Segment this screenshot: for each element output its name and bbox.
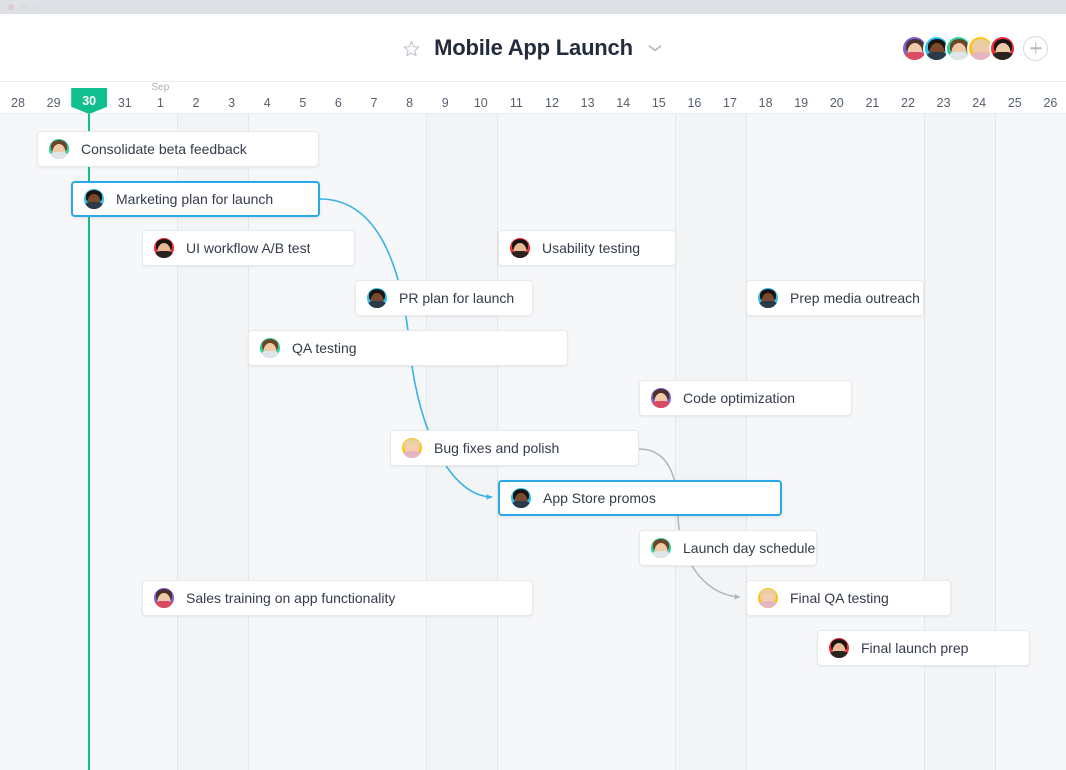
- avatar-body: [511, 501, 532, 508]
- app-header: Mobile App Launch: [0, 14, 1066, 82]
- ruler-tick[interactable]: 22: [890, 82, 926, 114]
- task-card-label: Marketing plan for launch: [116, 191, 273, 207]
- ruler-tick[interactable]: 7: [356, 82, 392, 114]
- ruler-tick-label: 5: [299, 97, 306, 115]
- task-ui-workflow-ab-test[interactable]: UI workflow A/B test: [142, 230, 355, 266]
- task-card-label: Prep media outreach: [790, 290, 920, 306]
- timeline-board: Consolidate beta feedbackMarketing plan …: [0, 114, 1066, 770]
- task-marketing-plan-for-launch[interactable]: Marketing plan for launch: [71, 181, 320, 217]
- task-prep-media-outreach[interactable]: Prep media outreach: [746, 280, 924, 316]
- ruler-tick-label: 12: [545, 97, 559, 115]
- member-avatar-list: [901, 14, 1048, 82]
- ruler-tick[interactable]: 5: [285, 82, 321, 114]
- ruler-tick[interactable]: 11: [498, 82, 534, 114]
- ruler-tick[interactable]: 14: [605, 82, 641, 114]
- ruler-tick-label: 18: [759, 97, 773, 115]
- avatar-body: [510, 251, 531, 258]
- ruler-tick-label: 29: [47, 97, 61, 115]
- task-assignee-avatar[interactable]: [756, 286, 780, 310]
- task-card-label: App Store promos: [543, 490, 656, 506]
- task-card-label: UI workflow A/B test: [186, 240, 310, 256]
- task-assignee-avatar[interactable]: [649, 386, 673, 410]
- today-tick-label: 30: [71, 88, 107, 114]
- ruler-tick[interactable]: 28: [0, 82, 36, 114]
- star-outline-icon[interactable]: [403, 40, 420, 57]
- avatar-body: [758, 601, 779, 608]
- today-tick[interactable]: 30: [71, 82, 107, 114]
- task-card-label: PR plan for launch: [399, 290, 514, 306]
- ruler-tick[interactable]: 12: [534, 82, 570, 114]
- ruler-tick-label: 17: [723, 97, 737, 115]
- task-card-label: Final launch prep: [861, 640, 968, 656]
- gridline: [924, 114, 925, 770]
- timeline-app: Mobile App Launch 28293031Sep12345678910…: [0, 0, 1066, 770]
- ruler-tick[interactable]: 6: [320, 82, 356, 114]
- task-card-label: Usability testing: [542, 240, 640, 256]
- traffic-lights: [8, 4, 40, 10]
- ruler-tick-label: 31: [118, 97, 132, 115]
- task-assignee-avatar[interactable]: [152, 236, 176, 260]
- avatar-body: [651, 401, 672, 408]
- window-titlebar: [0, 0, 1066, 14]
- ruler-tick[interactable]: 25: [997, 82, 1033, 114]
- gridline: [746, 114, 747, 770]
- task-assignee-avatar[interactable]: [82, 187, 106, 211]
- ruler-tick-label: 14: [616, 97, 630, 115]
- ruler-tick[interactable]: 15: [641, 82, 677, 114]
- weekend-band: [675, 114, 746, 770]
- task-card-label: Launch day schedule: [683, 540, 815, 556]
- task-assignee-avatar[interactable]: [258, 336, 282, 360]
- ruler-tick-label: 9: [442, 97, 449, 115]
- ruler-tick-label: 23: [937, 97, 951, 115]
- task-assignee-avatar[interactable]: [509, 486, 533, 510]
- task-assignee-avatar[interactable]: [827, 636, 851, 660]
- ruler-tick-label: 13: [581, 97, 595, 115]
- page-title: Mobile App Launch: [434, 35, 633, 61]
- task-consolidate-beta-feedback[interactable]: Consolidate beta feedback: [37, 131, 319, 167]
- ruler-tick-label: 25: [1008, 97, 1022, 115]
- task-card-label: QA testing: [292, 340, 357, 356]
- task-assignee-avatar[interactable]: [508, 236, 532, 260]
- avatar-body: [154, 251, 175, 258]
- avatar-body: [260, 351, 281, 358]
- avatar-body: [651, 551, 672, 558]
- task-bug-fixes-and-polish[interactable]: Bug fixes and polish: [390, 430, 639, 466]
- task-usability-testing[interactable]: Usability testing: [498, 230, 676, 266]
- ruler-tick-label: 16: [687, 97, 701, 115]
- ruler-tick[interactable]: 21: [854, 82, 890, 114]
- ruler-tick[interactable]: 18: [748, 82, 784, 114]
- ruler-tick[interactable]: 19: [783, 82, 819, 114]
- ruler-tick-label: 22: [901, 97, 915, 115]
- timeline-ruler[interactable]: 28293031Sep12345678910111213141516171819…: [0, 82, 1066, 114]
- ruler-tick[interactable]: 3: [214, 82, 250, 114]
- task-assignee-avatar[interactable]: [365, 286, 389, 310]
- task-card-label: Sales training on app functionality: [186, 590, 395, 606]
- gridline: [675, 114, 676, 770]
- avatar-body: [402, 451, 423, 458]
- ruler-tick-label: 2: [193, 97, 200, 115]
- ruler-tick-label: 11: [510, 97, 523, 115]
- task-card-label: Final QA testing: [790, 590, 889, 606]
- ruler-tick[interactable]: 26: [1032, 82, 1066, 114]
- task-card-label: Consolidate beta feedback: [81, 141, 247, 157]
- avatar-body: [154, 601, 175, 608]
- ruler-tick-label: 3: [228, 97, 235, 115]
- ruler-tick-label: 19: [794, 97, 808, 115]
- task-assignee-avatar[interactable]: [400, 436, 424, 460]
- ruler-tick-label: 21: [865, 97, 879, 115]
- ruler-tick-label: 28: [11, 97, 25, 115]
- avatar-body: [49, 152, 70, 159]
- task-pr-plan-for-launch[interactable]: PR plan for launch: [355, 280, 533, 316]
- ruler-tick[interactable]: 31: [107, 82, 143, 114]
- ruler-tick[interactable]: 9: [427, 82, 463, 114]
- ruler-tick[interactable]: 10: [463, 82, 499, 114]
- task-code-optimization[interactable]: Code optimization: [639, 380, 852, 416]
- chevron-down-icon[interactable]: [647, 43, 663, 53]
- task-final-launch-prep[interactable]: Final launch prep: [817, 630, 1030, 666]
- ruler-tick-label: 8: [406, 97, 413, 115]
- weekend-band: [924, 114, 995, 770]
- ruler-tick[interactable]: 24: [961, 82, 997, 114]
- ruler-tick[interactable]: 2: [178, 82, 214, 114]
- ruler-tick[interactable]: Sep1: [142, 82, 178, 114]
- ruler-tick-label: 1: [157, 97, 164, 115]
- task-card-label: Bug fixes and polish: [434, 440, 559, 456]
- avatar-body: [991, 52, 1015, 60]
- ruler-tick[interactable]: 4: [249, 82, 285, 114]
- ruler-tick-label: 6: [335, 97, 342, 115]
- ruler-tick[interactable]: 23: [926, 82, 962, 114]
- task-assignee-avatar[interactable]: [756, 586, 780, 610]
- avatar-body: [84, 202, 105, 209]
- task-assignee-avatar[interactable]: [649, 536, 673, 560]
- task-sales-training-on-app-functionality[interactable]: Sales training on app functionality: [142, 580, 533, 616]
- ruler-tick-label: 24: [972, 97, 986, 115]
- ruler-tick-label: 20: [830, 97, 844, 115]
- ruler-tick-label: 7: [371, 97, 378, 115]
- task-app-store-promos[interactable]: App Store promos: [498, 480, 782, 516]
- task-launch-day-schedule[interactable]: Launch day schedule: [639, 530, 817, 566]
- add-member-button[interactable]: [1023, 36, 1048, 61]
- ruler-tick-label: 4: [264, 97, 271, 115]
- task-qa-testing[interactable]: QA testing: [248, 330, 568, 366]
- ruler-tick-label: 10: [474, 97, 488, 115]
- task-final-qa-testing[interactable]: Final QA testing: [746, 580, 951, 616]
- avatar-body: [829, 651, 850, 658]
- zoom-icon[interactable]: [34, 4, 40, 10]
- avatar-body: [367, 301, 388, 308]
- month-label: Sep: [151, 82, 169, 93]
- task-assignee-avatar[interactable]: [47, 137, 71, 161]
- task-assignee-avatar[interactable]: [152, 586, 176, 610]
- gridline: [995, 114, 996, 770]
- ruler-tick[interactable]: 17: [712, 82, 748, 114]
- close-icon[interactable]: [8, 4, 14, 10]
- ruler-tick[interactable]: 20: [819, 82, 855, 114]
- ruler-tick-label: 15: [652, 97, 666, 115]
- ruler-tick[interactable]: 16: [676, 82, 712, 114]
- minimize-icon[interactable]: [21, 4, 27, 10]
- avatar-body: [758, 301, 779, 308]
- task-card-label: Code optimization: [683, 390, 795, 406]
- ruler-tick-label: 26: [1043, 97, 1057, 115]
- ruler-tick[interactable]: 13: [570, 82, 606, 114]
- avatar-member-5[interactable]: [989, 35, 1016, 62]
- ruler-tick[interactable]: 29: [36, 82, 72, 114]
- ruler-tick[interactable]: 8: [392, 82, 428, 114]
